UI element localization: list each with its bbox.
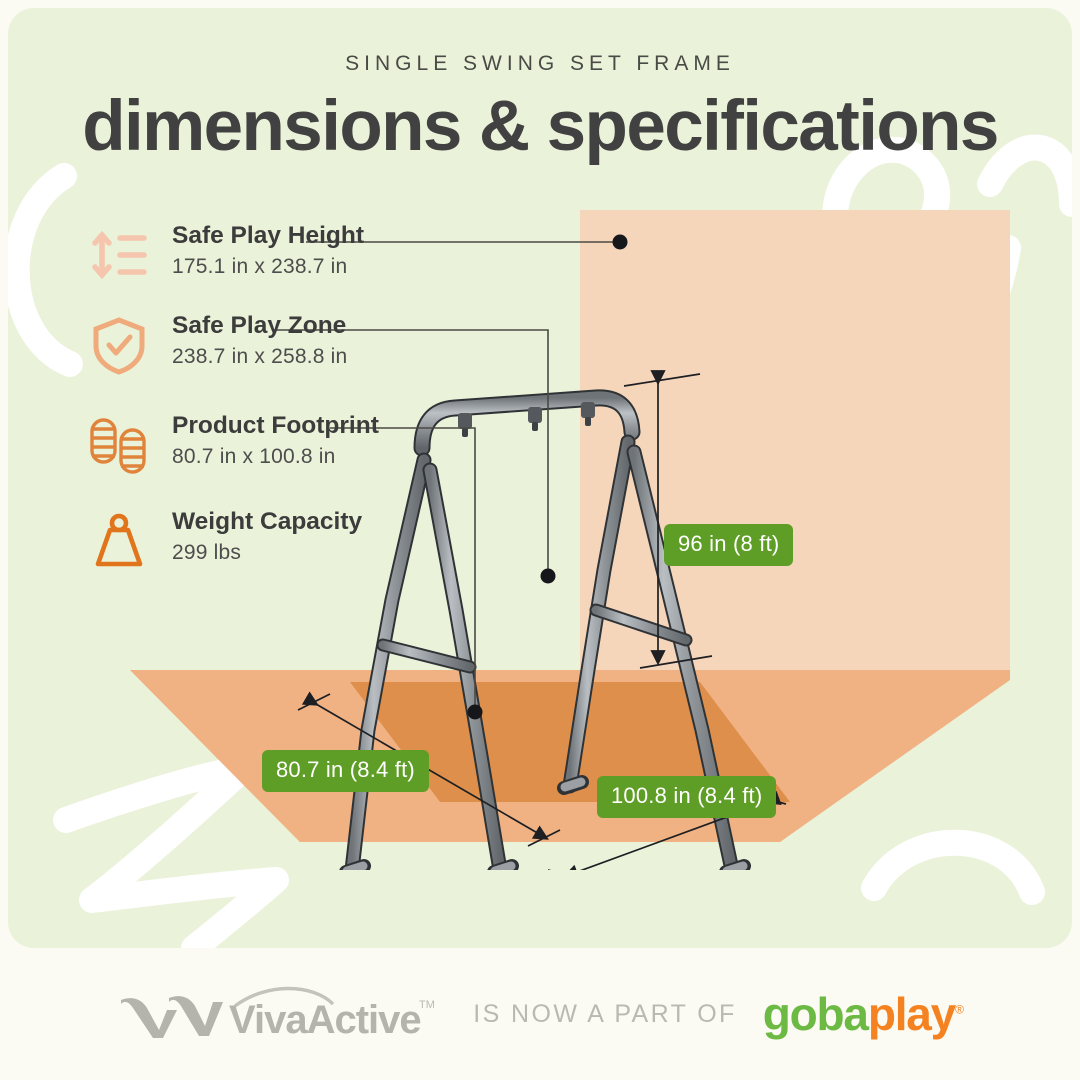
shield-check-icon (88, 314, 150, 376)
gobaplay-logo: gobaplay® (763, 987, 963, 1041)
badge-height: 96 in (8 ft) (664, 524, 793, 566)
badge-depth: 100.8 in (8.4 ft) (597, 776, 776, 818)
spec-value: 299 lbs (172, 541, 241, 565)
spec-title: Safe Play Zone (172, 312, 346, 340)
spec-value: 175.1 in x 238.7 in (172, 255, 347, 279)
page-title: dimensions & specifications (0, 86, 1080, 167)
gobaplay-registered-mark: ® (955, 1003, 963, 1017)
vivaactive-tm: TM (419, 999, 435, 1011)
spec-item-safe-play-height: Safe Play Height 175.1 in x 238.7 in (88, 222, 488, 298)
spec-title: Weight Capacity (172, 508, 362, 536)
vivaactive-wordmark: VivaActive (229, 998, 421, 1042)
footprints-icon (88, 414, 150, 476)
weight-icon (88, 510, 150, 572)
badge-width: 80.7 in (8.4 ft) (262, 750, 429, 792)
spec-title: Safe Play Height (172, 222, 364, 250)
eyebrow-label: SINGLE SWING SET FRAME (0, 52, 1080, 76)
spec-value: 80.7 in x 100.8 in (172, 445, 336, 469)
spec-item-safe-play-zone: Safe Play Zone 238.7 in x 258.8 in (88, 312, 488, 388)
height-arrows-icon (88, 224, 150, 286)
spec-title: Product Footprint (172, 412, 379, 440)
safe-play-zone-wall (580, 210, 1010, 670)
footer-brand-bar: VivaActive TM IS NOW A PART OF gobaplay® (0, 948, 1080, 1080)
infographic-canvas: SINGLE SWING SET FRAME dimensions & spec… (0, 0, 1080, 1080)
gobaplay-play: play (868, 988, 955, 1040)
spec-value: 238.7 in x 258.8 in (172, 345, 347, 369)
gobaplay-goba: goba (763, 988, 868, 1040)
transition-label: IS NOW A PART OF (473, 1000, 736, 1029)
spec-item-product-footprint: Product Footprint 80.7 in x 100.8 in (88, 412, 488, 488)
vivaactive-ribbon-icon (121, 996, 223, 1038)
vivaactive-logo: VivaActive TM (117, 986, 447, 1042)
spec-item-weight-capacity: Weight Capacity 299 lbs (88, 508, 488, 584)
